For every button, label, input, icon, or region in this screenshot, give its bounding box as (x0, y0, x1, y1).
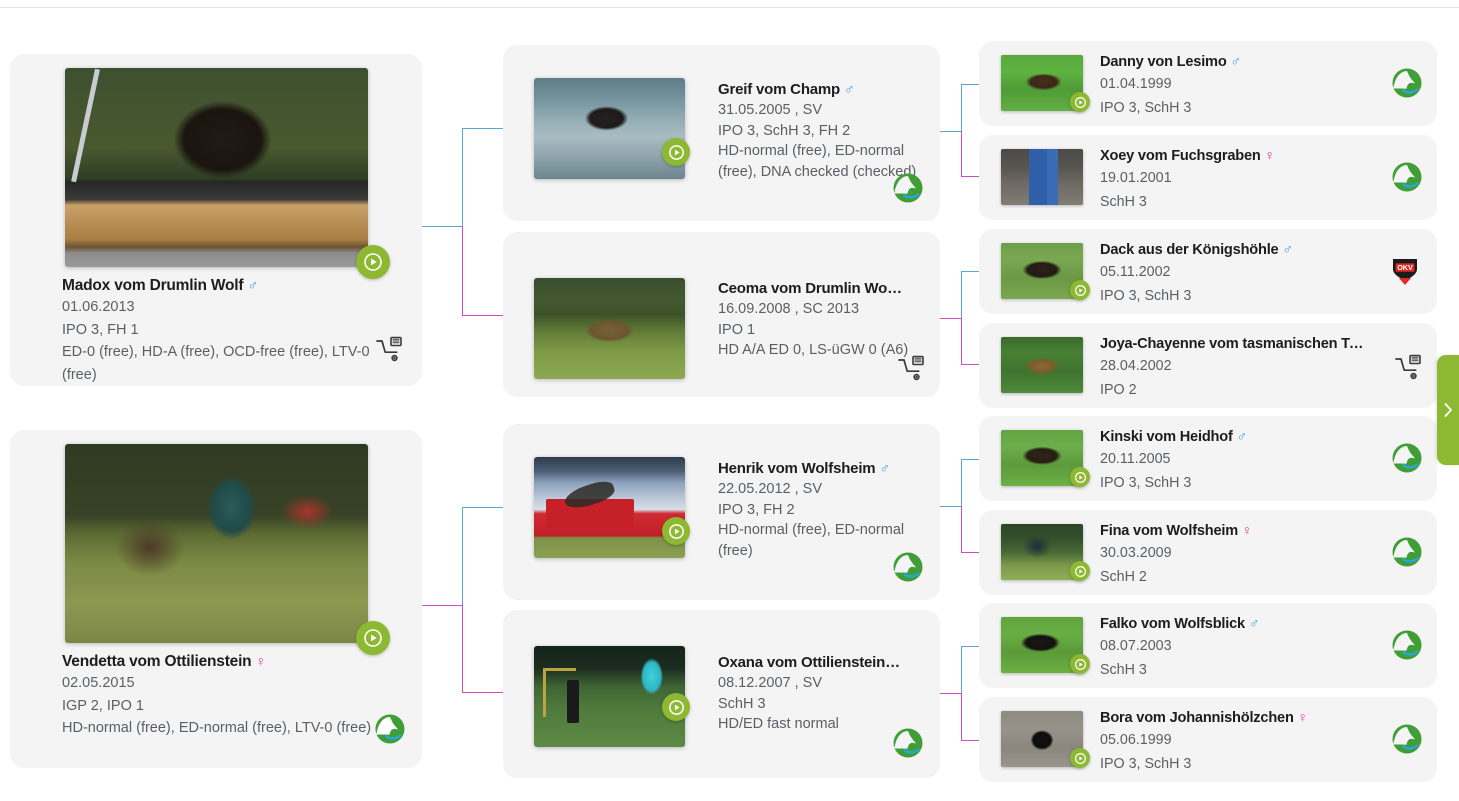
okv-badge-icon[interactable]: OKV (1391, 257, 1419, 292)
dog-photo-vendetta[interactable] (65, 444, 368, 643)
dog-birthdate: 08.07.2003 (1100, 635, 1371, 659)
dog-name-oxana[interactable]: Oxana vom Ottilienstein… (718, 652, 930, 673)
working-dog-logo-icon[interactable] (1391, 629, 1423, 666)
connector-greif-up (961, 84, 962, 132)
dog-name-text: Danny von Lesimo (1100, 54, 1227, 70)
play-button-fina[interactable] (1070, 561, 1090, 581)
pedigree-card-danny[interactable]: Danny von Lesimo ♂ 01.04.1999 IPO 3, Sch… (979, 41, 1437, 126)
dog-name-text: Madox vom Drumlin Wolf (62, 277, 243, 294)
dog-birthdate: 16.09.2008 , SC 2013 (718, 299, 930, 320)
connector-oxana-up (961, 646, 962, 694)
connector-oxana-down (961, 693, 962, 740)
dog-birthdate: 05.11.2002 (1100, 261, 1371, 285)
card-info-kinski: Kinski vom Heidhof ♂ 20.11.2005 IPO 3, S… (1100, 426, 1371, 495)
dog-titles: IGP 2, IPO 1 (62, 695, 408, 718)
dog-titles: SchH 2 (1100, 566, 1371, 590)
card-info-xoey: Xoey vom Fuchsgraben ♀ 19.01.2001 SchH 3 (1100, 145, 1371, 214)
dog-birthdate: 08.12.2007 , SV (718, 673, 930, 694)
dog-titles: IPO 3, FH 1 (62, 319, 408, 342)
working-dog-logo-icon[interactable] (1391, 442, 1423, 479)
dog-birthdate: 01.06.2013 (62, 296, 408, 319)
dog-photo-madox[interactable] (65, 68, 368, 267)
dog-photo-oxana[interactable] (534, 646, 685, 747)
dog-name-falko[interactable]: Falko vom Wolfsblick ♂ (1100, 613, 1371, 635)
drawer-toggle-button[interactable] (1437, 355, 1459, 465)
pedigree-card-fina[interactable]: Fina vom Wolfsheim ♀ 30.03.2009 SchH 2 (979, 510, 1437, 595)
sex-icon-female: ♀ (1242, 522, 1252, 538)
pedigree-canvas: Madox vom Drumlin Wolf ♂ 01.06.2013 IPO … (0, 0, 1459, 801)
sex-icon-male: ♂ (844, 81, 854, 97)
dog-name-text: Bora vom Johannishölzchen (1100, 710, 1294, 726)
photo-wrapper-madox (65, 68, 368, 267)
dog-birthdate: 01.04.1999 (1100, 73, 1371, 97)
dog-photo-ceoma[interactable] (534, 278, 685, 379)
working-dog-logo-icon[interactable] (374, 713, 406, 750)
connector-greif-down (961, 131, 962, 177)
sex-icon-male: ♂ (1249, 615, 1259, 631)
play-button-madox[interactable] (356, 245, 390, 279)
dog-titles: IPO 3, SchH 3, FH 2 (718, 121, 930, 142)
card-info-henrik: Henrik vom Wolfsheim ♂ 22.05.2012 , SV I… (718, 458, 930, 561)
dog-name-joya[interactable]: Joya-Chayenne vom tasmanischen Teufe… (1100, 333, 1371, 355)
connector-ceoma-up (961, 271, 962, 319)
dog-titles: IPO 3, SchH 3 (1100, 753, 1371, 777)
card-info-greif: Greif vom Champ ♂ 31.05.2005 , SV IPO 3,… (718, 79, 930, 182)
sex-icon-male: ♂ (1237, 428, 1247, 444)
dog-name-vendetta[interactable]: Vendetta vom Ottilienstein ♀ (62, 651, 408, 672)
play-button-danny[interactable] (1070, 92, 1090, 112)
dog-photo-joya[interactable] (1001, 337, 1083, 393)
connector-vendetta-down (462, 605, 463, 693)
working-dog-logo-icon[interactable] (892, 551, 924, 588)
pedigree-card-oxana[interactable]: Oxana vom Ottilienstein… 08.12.2007 , SV… (503, 610, 940, 778)
dog-health: ED-0 (free), HD-A (free), OCD-free (free… (62, 341, 408, 386)
pedigree-card-greif[interactable]: Greif vom Champ ♂ 31.05.2005 , SV IPO 3,… (503, 45, 940, 221)
working-dog-logo-icon[interactable] (1391, 67, 1423, 104)
dog-name-text: Henrik vom Wolfsheim (718, 460, 875, 477)
dog-photo-greif[interactable] (534, 78, 685, 179)
working-dog-logo-icon[interactable] (1391, 161, 1423, 198)
card-info-danny: Danny von Lesimo ♂ 01.04.1999 IPO 3, Sch… (1100, 51, 1371, 120)
play-button-oxana[interactable] (662, 693, 690, 721)
pedigree-card-joya[interactable]: Joya-Chayenne vom tasmanischen Teufe… 28… (979, 323, 1437, 408)
dog-name-danny[interactable]: Danny von Lesimo ♂ (1100, 51, 1371, 73)
sex-icon-male: ♂ (1282, 241, 1292, 257)
dog-birthdate: 19.01.2001 (1100, 167, 1371, 191)
connector-to-falko (961, 646, 980, 647)
play-button-falko[interactable] (1070, 654, 1090, 674)
card-info-fina: Fina vom Wolfsheim ♀ 30.03.2009 SchH 2 (1100, 520, 1371, 589)
play-button-bora[interactable] (1070, 748, 1090, 768)
dog-birthdate: 05.06.1999 (1100, 729, 1371, 753)
dog-birthdate: 22.05.2012 , SV (718, 479, 930, 500)
dog-name-dack[interactable]: Dack aus der Königshöhle ♂ (1100, 239, 1371, 261)
dog-name-text: Vendetta vom Ottilienstein (62, 653, 251, 670)
cart-add-icon[interactable] (896, 354, 926, 389)
pedigree-card-kinski[interactable]: Kinski vom Heidhof ♂ 20.11.2005 IPO 3, S… (979, 416, 1437, 501)
connector-madox-up (462, 128, 463, 227)
connector-henrik-stub (938, 506, 962, 507)
pedigree-card-henrik[interactable]: Henrik vom Wolfsheim ♂ 22.05.2012 , SV I… (503, 424, 940, 600)
card-info-madox: Madox vom Drumlin Wolf ♂ 01.06.2013 IPO … (10, 267, 422, 386)
dog-name-text: Xoey vom Fuchsgraben (1100, 148, 1261, 164)
working-dog-logo-icon[interactable] (1391, 723, 1423, 760)
dog-titles: IPO 2 (1100, 379, 1371, 403)
connector-ceoma-stub (938, 318, 962, 319)
sex-icon-male: ♂ (879, 460, 889, 476)
play-button-greif[interactable] (662, 138, 690, 166)
dog-name-text: Joya-Chayenne vom tasmanischen Teufe… (1100, 336, 1371, 352)
connector-to-fina (961, 552, 980, 553)
pedigree-card-madox[interactable]: Madox vom Drumlin Wolf ♂ 01.06.2013 IPO … (10, 54, 422, 386)
dog-birthdate: 02.05.2015 (62, 672, 408, 695)
connector-to-kinski (961, 459, 980, 460)
working-dog-logo-icon[interactable] (892, 172, 924, 209)
pedigree-card-ceoma[interactable]: Ceoma vom Drumlin Wo… 16.09.2008 , SC 20… (503, 232, 940, 397)
connector-ceoma-down (961, 318, 962, 365)
connector-to-xoey (961, 176, 980, 177)
pedigree-card-falko[interactable]: Falko vom Wolfsblick ♂ 08.07.2003 SchH 3 (979, 603, 1437, 688)
card-info-joya: Joya-Chayenne vom tasmanischen Teufe… 28… (1100, 333, 1371, 402)
play-button-kinski[interactable] (1070, 467, 1090, 487)
card-info-oxana: Oxana vom Ottilienstein… 08.12.2007 , SV… (718, 652, 930, 735)
sex-icon-female: ♀ (1298, 709, 1308, 725)
sex-icon-female: ♀ (256, 653, 266, 669)
connector-to-henrik (462, 507, 504, 508)
sex-icon-male: ♂ (247, 277, 257, 293)
connector-to-greif (462, 128, 504, 129)
okv-badge-text: OKV (1397, 263, 1413, 272)
dog-birthdate: 28.04.2002 (1100, 355, 1371, 379)
working-dog-logo-icon[interactable] (1391, 536, 1423, 573)
dog-name-text: Fina vom Wolfsheim (1100, 523, 1238, 539)
dog-titles: SchH 3 (1100, 659, 1371, 683)
dog-titles: IPO 3, SchH 3 (1100, 472, 1371, 496)
dog-titles: IPO 3, SchH 3 (1100, 97, 1371, 121)
play-button-henrik[interactable] (662, 517, 690, 545)
connector-to-bora (961, 740, 980, 741)
connector-vendetta-up (462, 507, 463, 606)
dog-name-fina[interactable]: Fina vom Wolfsheim ♀ (1100, 520, 1371, 542)
card-info-dack: Dack aus der Königshöhle ♂ 05.11.2002 IP… (1100, 239, 1371, 308)
connector-madox-down (462, 226, 463, 316)
chevron-right-icon (1443, 402, 1453, 418)
dog-name-ceoma[interactable]: Ceoma vom Drumlin Wo… (718, 278, 930, 299)
pedigree-card-xoey[interactable]: Xoey vom Fuchsgraben ♀ 19.01.2001 SchH 3 (979, 135, 1437, 220)
dog-titles: SchH 3 (718, 694, 930, 715)
working-dog-logo-icon[interactable] (892, 727, 924, 764)
dog-name-text: Falko vom Wolfsblick (1100, 616, 1245, 632)
sex-icon-female: ♀ (1265, 147, 1275, 163)
dog-photo-xoey[interactable] (1001, 149, 1083, 205)
connector-to-joya (961, 364, 980, 365)
dog-name-text: Kinski vom Heidhof (1100, 429, 1233, 445)
dog-name-text: Ceoma vom Drumlin Wo… (718, 280, 902, 297)
connector-to-dack (961, 271, 980, 272)
dog-name-bora[interactable]: Bora vom Johannishölzchen ♀ (1100, 707, 1371, 729)
dog-name-greif[interactable]: Greif vom Champ ♂ (718, 79, 930, 100)
dog-birthdate: 31.05.2005 , SV (718, 100, 930, 121)
sex-icon-male: ♂ (1230, 53, 1240, 69)
dog-name-text: Greif vom Champ (718, 81, 840, 98)
dog-name-kinski[interactable]: Kinski vom Heidhof ♂ (1100, 426, 1371, 448)
dog-titles: SchH 3 (1100, 191, 1371, 215)
dog-titles: IPO 3, SchH 3 (1100, 285, 1371, 309)
connector-henrik-down (961, 506, 962, 553)
dog-health: HD-normal (free), ED-normal (free), LTV-… (62, 717, 408, 740)
dog-birthdate: 20.11.2005 (1100, 448, 1371, 472)
card-info-ceoma: Ceoma vom Drumlin Wo… 16.09.2008 , SC 20… (718, 278, 930, 361)
cart-add-icon[interactable] (374, 335, 404, 370)
photo-wrapper-vendetta (65, 444, 368, 643)
dog-name-henrik[interactable]: Henrik vom Wolfsheim ♂ (718, 458, 930, 479)
connector-to-danny (961, 84, 980, 85)
play-button-vendetta[interactable] (356, 621, 390, 655)
connector-henrik-up (961, 459, 962, 507)
dog-name-text: Dack aus der Königshöhle (1100, 242, 1278, 258)
dog-name-text: Oxana vom Ottilienstein… (718, 654, 900, 671)
connector-oxana-stub (938, 693, 962, 694)
connector-greif-stub (938, 131, 962, 132)
pedigree-card-vendetta[interactable]: Vendetta vom Ottilienstein ♀ 02.05.2015 … (10, 430, 422, 768)
card-info-falko: Falko vom Wolfsblick ♂ 08.07.2003 SchH 3 (1100, 613, 1371, 682)
connector-to-oxana (462, 692, 504, 693)
play-button-dack[interactable] (1070, 280, 1090, 300)
dog-name-xoey[interactable]: Xoey vom Fuchsgraben ♀ (1100, 145, 1371, 167)
dog-birthdate: 30.03.2009 (1100, 542, 1371, 566)
connector-to-ceoma (462, 315, 504, 316)
card-info-vendetta: Vendetta vom Ottilienstein ♀ 02.05.2015 … (10, 643, 422, 754)
card-info-bora: Bora vom Johannishölzchen ♀ 05.06.1999 I… (1100, 707, 1371, 776)
dog-name-madox[interactable]: Madox vom Drumlin Wolf ♂ (62, 275, 408, 296)
pedigree-card-bora[interactable]: Bora vom Johannishölzchen ♀ 05.06.1999 I… (979, 697, 1437, 782)
dog-photo-henrik[interactable] (534, 457, 685, 558)
cart-add-icon[interactable] (1393, 353, 1423, 388)
pedigree-card-dack[interactable]: Dack aus der Königshöhle ♂ 05.11.2002 IP… (979, 229, 1437, 314)
dog-titles: IPO 3, FH 2 (718, 500, 930, 521)
top-divider (0, 7, 1459, 8)
dog-titles: IPO 1 (718, 320, 930, 341)
